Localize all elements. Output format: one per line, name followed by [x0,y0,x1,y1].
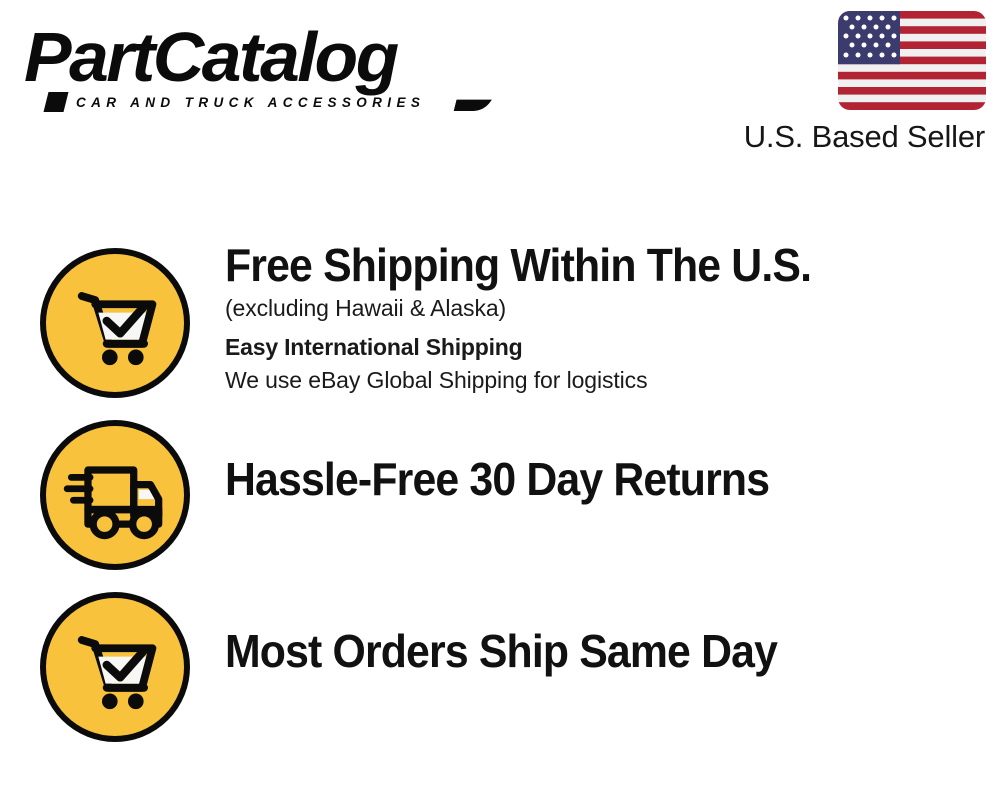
icon-circle [40,420,190,570]
icon-circle [40,592,190,742]
page-header: PartCatalog CAR AND TRUCK ACCESSORIES [0,0,1000,185]
feature-subtext-logistics: We use eBay Global Shipping for logistic… [225,364,1000,397]
brand-logo[interactable]: PartCatalog CAR AND TRUCK ACCESSORIES [24,22,494,117]
brand-wordmark: PartCatalog [24,22,503,92]
brand-tagline: CAR AND TRUCK ACCESSORIES [76,95,425,110]
shopping-cart-check-icon [63,271,167,375]
feature-text: Hassle-Free 30 Day Returns [190,412,1000,506]
feature-icon-badge [40,584,190,742]
logo-swash-left [44,92,69,112]
united-states-flag-icon [838,11,986,110]
feature-icon-badge [40,236,190,398]
feature-text: Free Shipping Within The U.S. (excluding… [190,236,1000,397]
feature-icon-badge [40,412,190,570]
feature-headline: Free Shipping Within The U.S. [225,238,946,292]
feature-text: Most Orders Ship Same Day [190,584,1000,678]
feature-row: Most Orders Ship Same Day [0,584,1000,756]
feature-subtext-exclusion: (excluding Hawaii & Alaska) [225,292,1000,325]
logo-swash-right [454,92,495,111]
us-based-seller-label: U.S. Based Seller [744,118,985,156]
feature-row: Free Shipping Within The U.S. (excluding… [0,236,1000,412]
feature-subtext-international: Easy International Shipping [225,325,1000,364]
delivery-truck-icon [63,443,167,547]
feature-headline: Most Orders Ship Same Day [225,624,946,678]
feature-row: Hassle-Free 30 Day Returns [0,412,1000,584]
icon-circle [40,248,190,398]
shopping-cart-check-icon [63,615,167,719]
feature-headline: Hassle-Free 30 Day Returns [225,452,946,506]
